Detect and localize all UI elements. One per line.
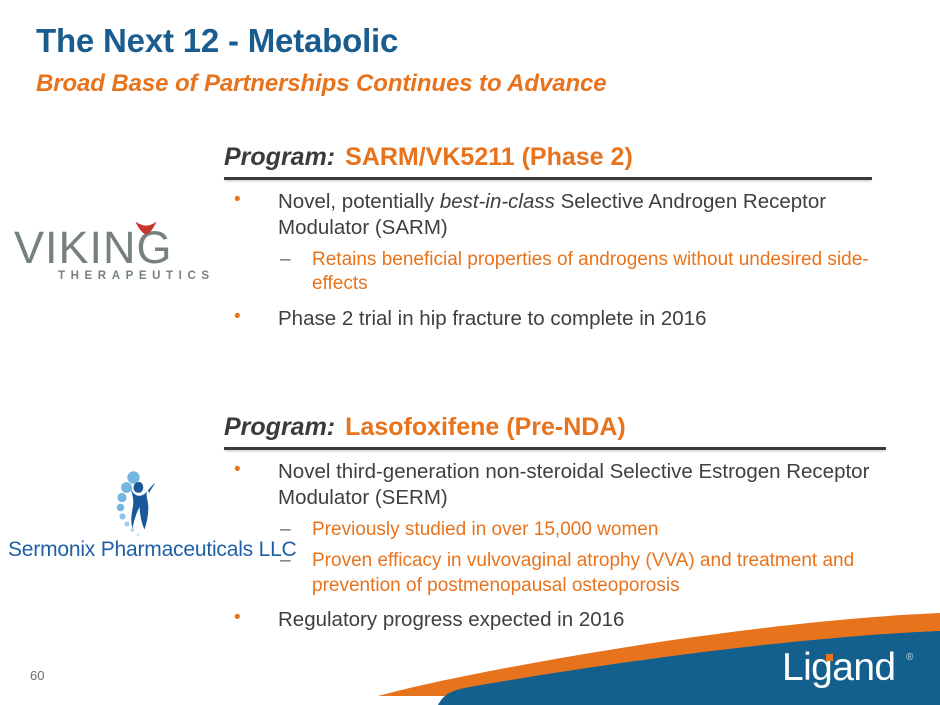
page-title: The Next 12 - Metabolic [36,22,398,60]
list-item: Novel, potentially best-in-class Selecti… [224,189,872,241]
ligand-wordmark: Ligand [782,645,896,691]
bullet-list: Novel, potentially best-in-class Selecti… [224,189,872,332]
viking-tagline: THERAPEUTICS [58,270,215,282]
viking-horn-icon [135,221,157,235]
page-number: 60 [30,668,44,683]
sermonix-figure-icon [106,470,168,538]
ligand-trademark: ® [906,652,913,663]
program-heading: Program:Lasofoxifene (Pre-NDA) [224,414,886,442]
bullet-text-emphasis: best-in-class [440,190,555,213]
viking-therapeutics-logo: VIKING THERAPEUTICS [14,216,222,294]
program-name: Lasofoxifene (Pre-NDA) [345,413,626,441]
program-label: Program: [224,413,335,441]
program-section-sarm: Program:SARM/VK5211 (Phase 2) Novel, pot… [224,144,872,332]
ligand-logo: Ligand ® [782,645,918,691]
program-divider [224,447,886,450]
list-item: Novel third-generation non-steroidal Sel… [224,459,886,511]
list-item: Proven efficacy in vulvovaginal atrophy … [224,549,886,598]
page-subtitle: Broad Base of Partnerships Continues to … [36,70,607,98]
program-label: Program: [224,143,335,171]
list-item: Retains beneficial properties of androge… [224,248,872,297]
bullet-text-pre: Novel, potentially [278,190,440,213]
list-item: Phase 2 trial in hip fracture to complet… [224,306,872,332]
program-heading: Program:SARM/VK5211 (Phase 2) [224,144,872,172]
slide: The Next 12 - Metabolic Broad Base of Pa… [0,0,940,705]
program-name: SARM/VK5211 (Phase 2) [345,143,633,171]
ligand-i-dot-icon [826,654,833,661]
program-divider [224,177,872,180]
list-item: Previously studied in over 15,000 women [224,518,886,542]
